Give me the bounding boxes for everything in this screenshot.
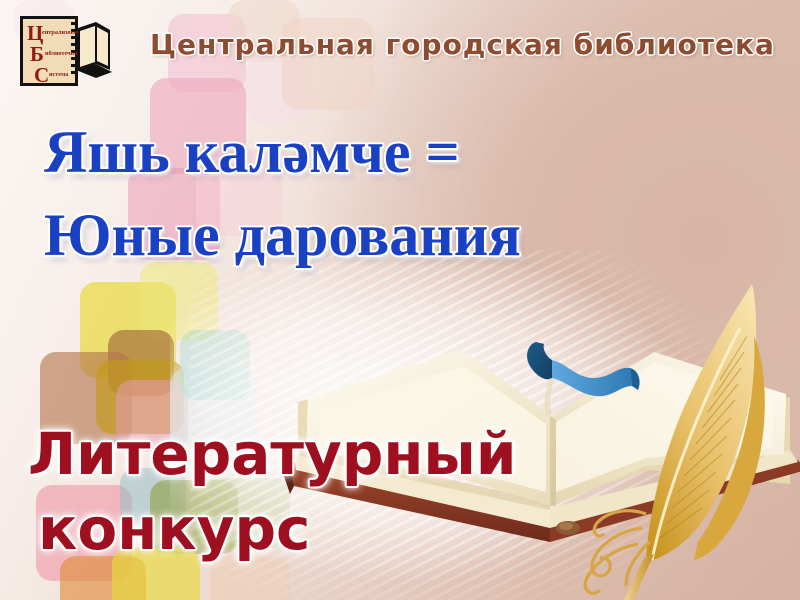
book-center-fold: [550, 416, 556, 506]
logo-word-2: иблиотечная: [45, 50, 81, 57]
poster-canvas: Ц Б С ентрализованная иблиотечная истема…: [0, 0, 800, 600]
background-square: [180, 330, 250, 400]
logo-word-3: истема: [49, 71, 68, 78]
event-title-line2: Юные дарования: [44, 205, 521, 265]
event-title-line1: Яшь каләмче =: [44, 122, 460, 182]
logo-letter-s: С: [34, 63, 49, 87]
event-subtitle-line1: Литературный: [28, 425, 517, 483]
background-square: [140, 262, 218, 340]
logo-open-book-icon: [76, 22, 112, 78]
organization-title: Центральная городская библиотека: [150, 28, 775, 61]
event-subtitle-line2: конкурс: [38, 500, 310, 558]
cbs-logo: Ц Б С ентрализованная иблиотечная истема: [18, 12, 118, 92]
